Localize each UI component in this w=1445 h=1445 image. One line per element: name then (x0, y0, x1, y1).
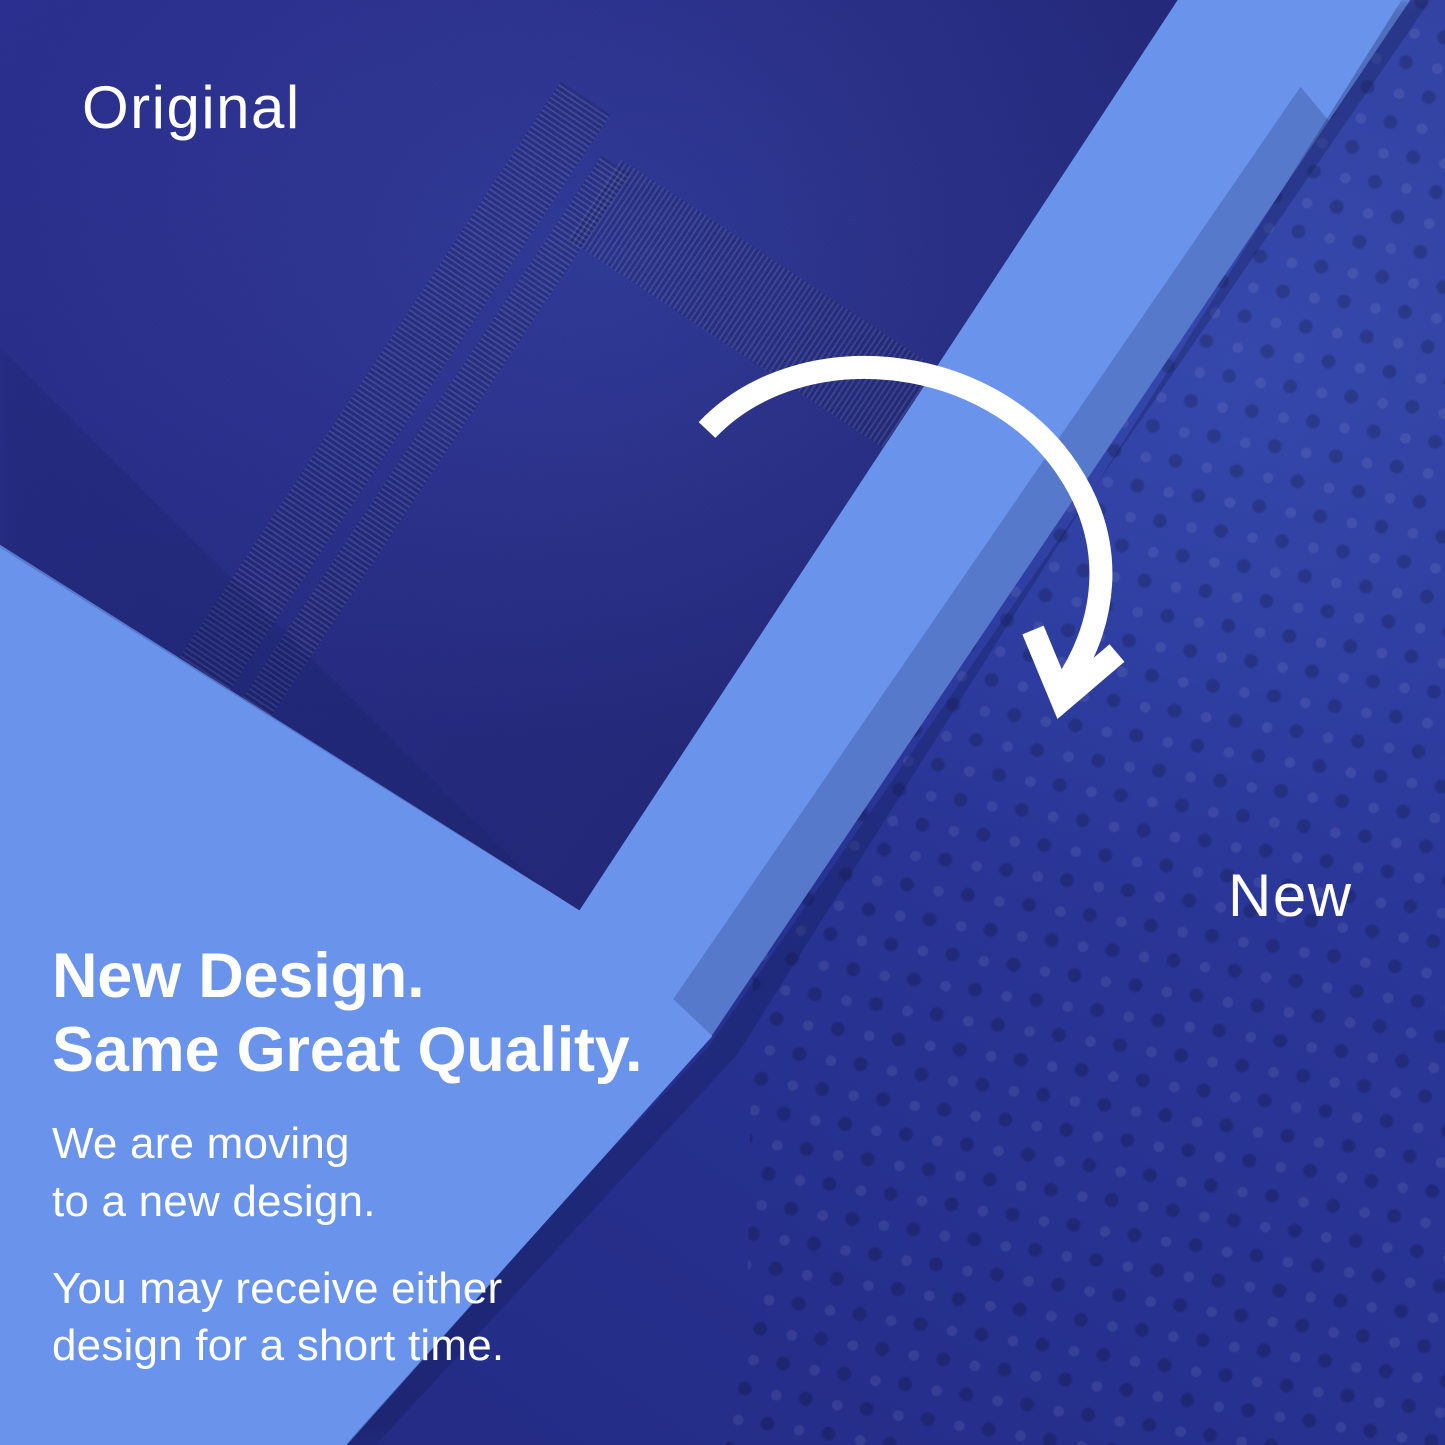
new-label: New (1228, 866, 1353, 926)
body-paragraph-1: We are moving to a new design. (52, 1115, 772, 1229)
product-design-change-banner: Original New New Design. Same Great Qual… (0, 0, 1445, 1445)
body-paragraph-1-line-1: We are moving (52, 1115, 772, 1172)
promo-copy-block: New Design. Same Great Quality. We are m… (52, 940, 772, 1374)
body-paragraph-2: You may receive either design for a shor… (52, 1260, 772, 1374)
headline-line-1: New Design. (52, 940, 772, 1014)
original-label: Original (82, 78, 301, 138)
headline-line-2: Same Great Quality. (52, 1014, 772, 1088)
body-paragraph-1-line-2: to a new design. (52, 1173, 772, 1230)
body-paragraph-2-line-1: You may receive either (52, 1260, 772, 1317)
body-paragraph-2-line-2: design for a short time. (52, 1317, 772, 1374)
page-title: New Design. Same Great Quality. (52, 940, 772, 1087)
